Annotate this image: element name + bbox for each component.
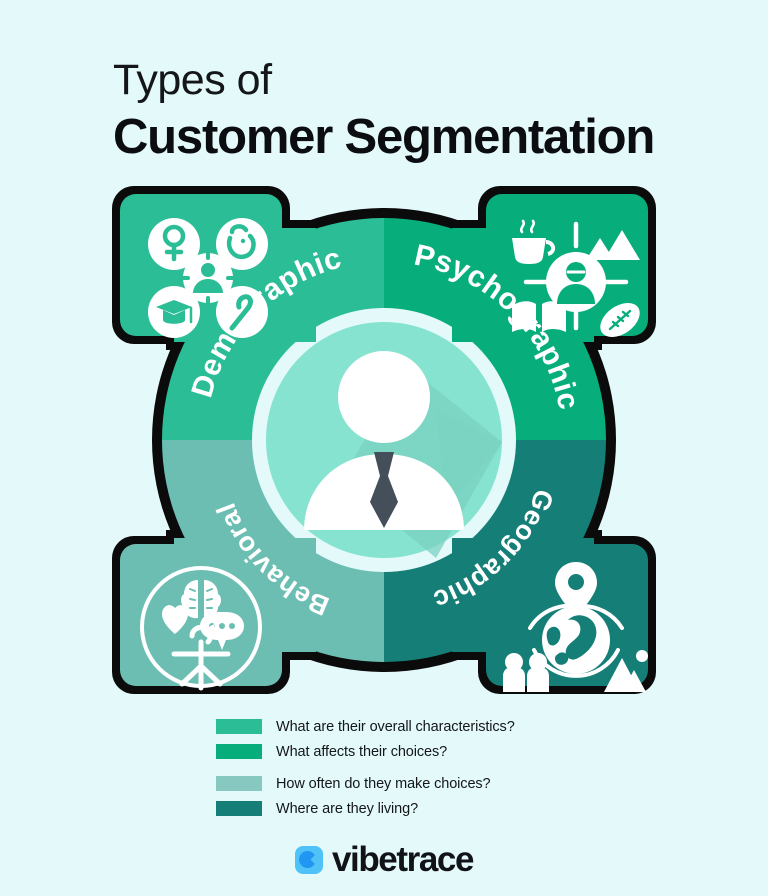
target-person-icon (183, 253, 233, 303)
brand-name: vibetrace (332, 840, 473, 880)
legend-item-geographic: Where are they living? (216, 796, 636, 821)
title-line-1: Types of (113, 58, 713, 103)
avatar-head-icon (338, 351, 430, 443)
center-avatar-group (266, 322, 502, 558)
legend-swatch-geographic (216, 801, 262, 816)
title-line-2: Customer Segmentation (113, 109, 713, 165)
globe-icon (542, 606, 610, 674)
segmentation-diagram: Demographic Psychographic Behavioral Geo… (106, 180, 662, 700)
brand-logo: vibetrace (0, 840, 768, 880)
legend-item-psychographic: What affects their choices? (216, 739, 636, 764)
legend-label-demographic: What are their overall characteristics? (276, 719, 515, 735)
vibetrace-logo-icon (295, 846, 323, 874)
page-title: Types of Customer Segmentation (113, 58, 713, 165)
legend-label-psychographic: What affects their choices? (276, 744, 447, 760)
legend-label-behavioral: How often do they make choices? (276, 776, 491, 792)
legend-label-geographic: Where are they living? (276, 801, 418, 817)
legend-swatch-psychographic (216, 744, 262, 759)
legend-item-behavioral: How often do they make choices? (216, 771, 636, 796)
legend-item-demographic: What are their overall characteristics? (216, 714, 636, 739)
legend-swatch-behavioral (216, 776, 262, 791)
legend-swatch-demographic (216, 719, 262, 734)
legend: What are their overall characteristics? … (216, 714, 636, 821)
